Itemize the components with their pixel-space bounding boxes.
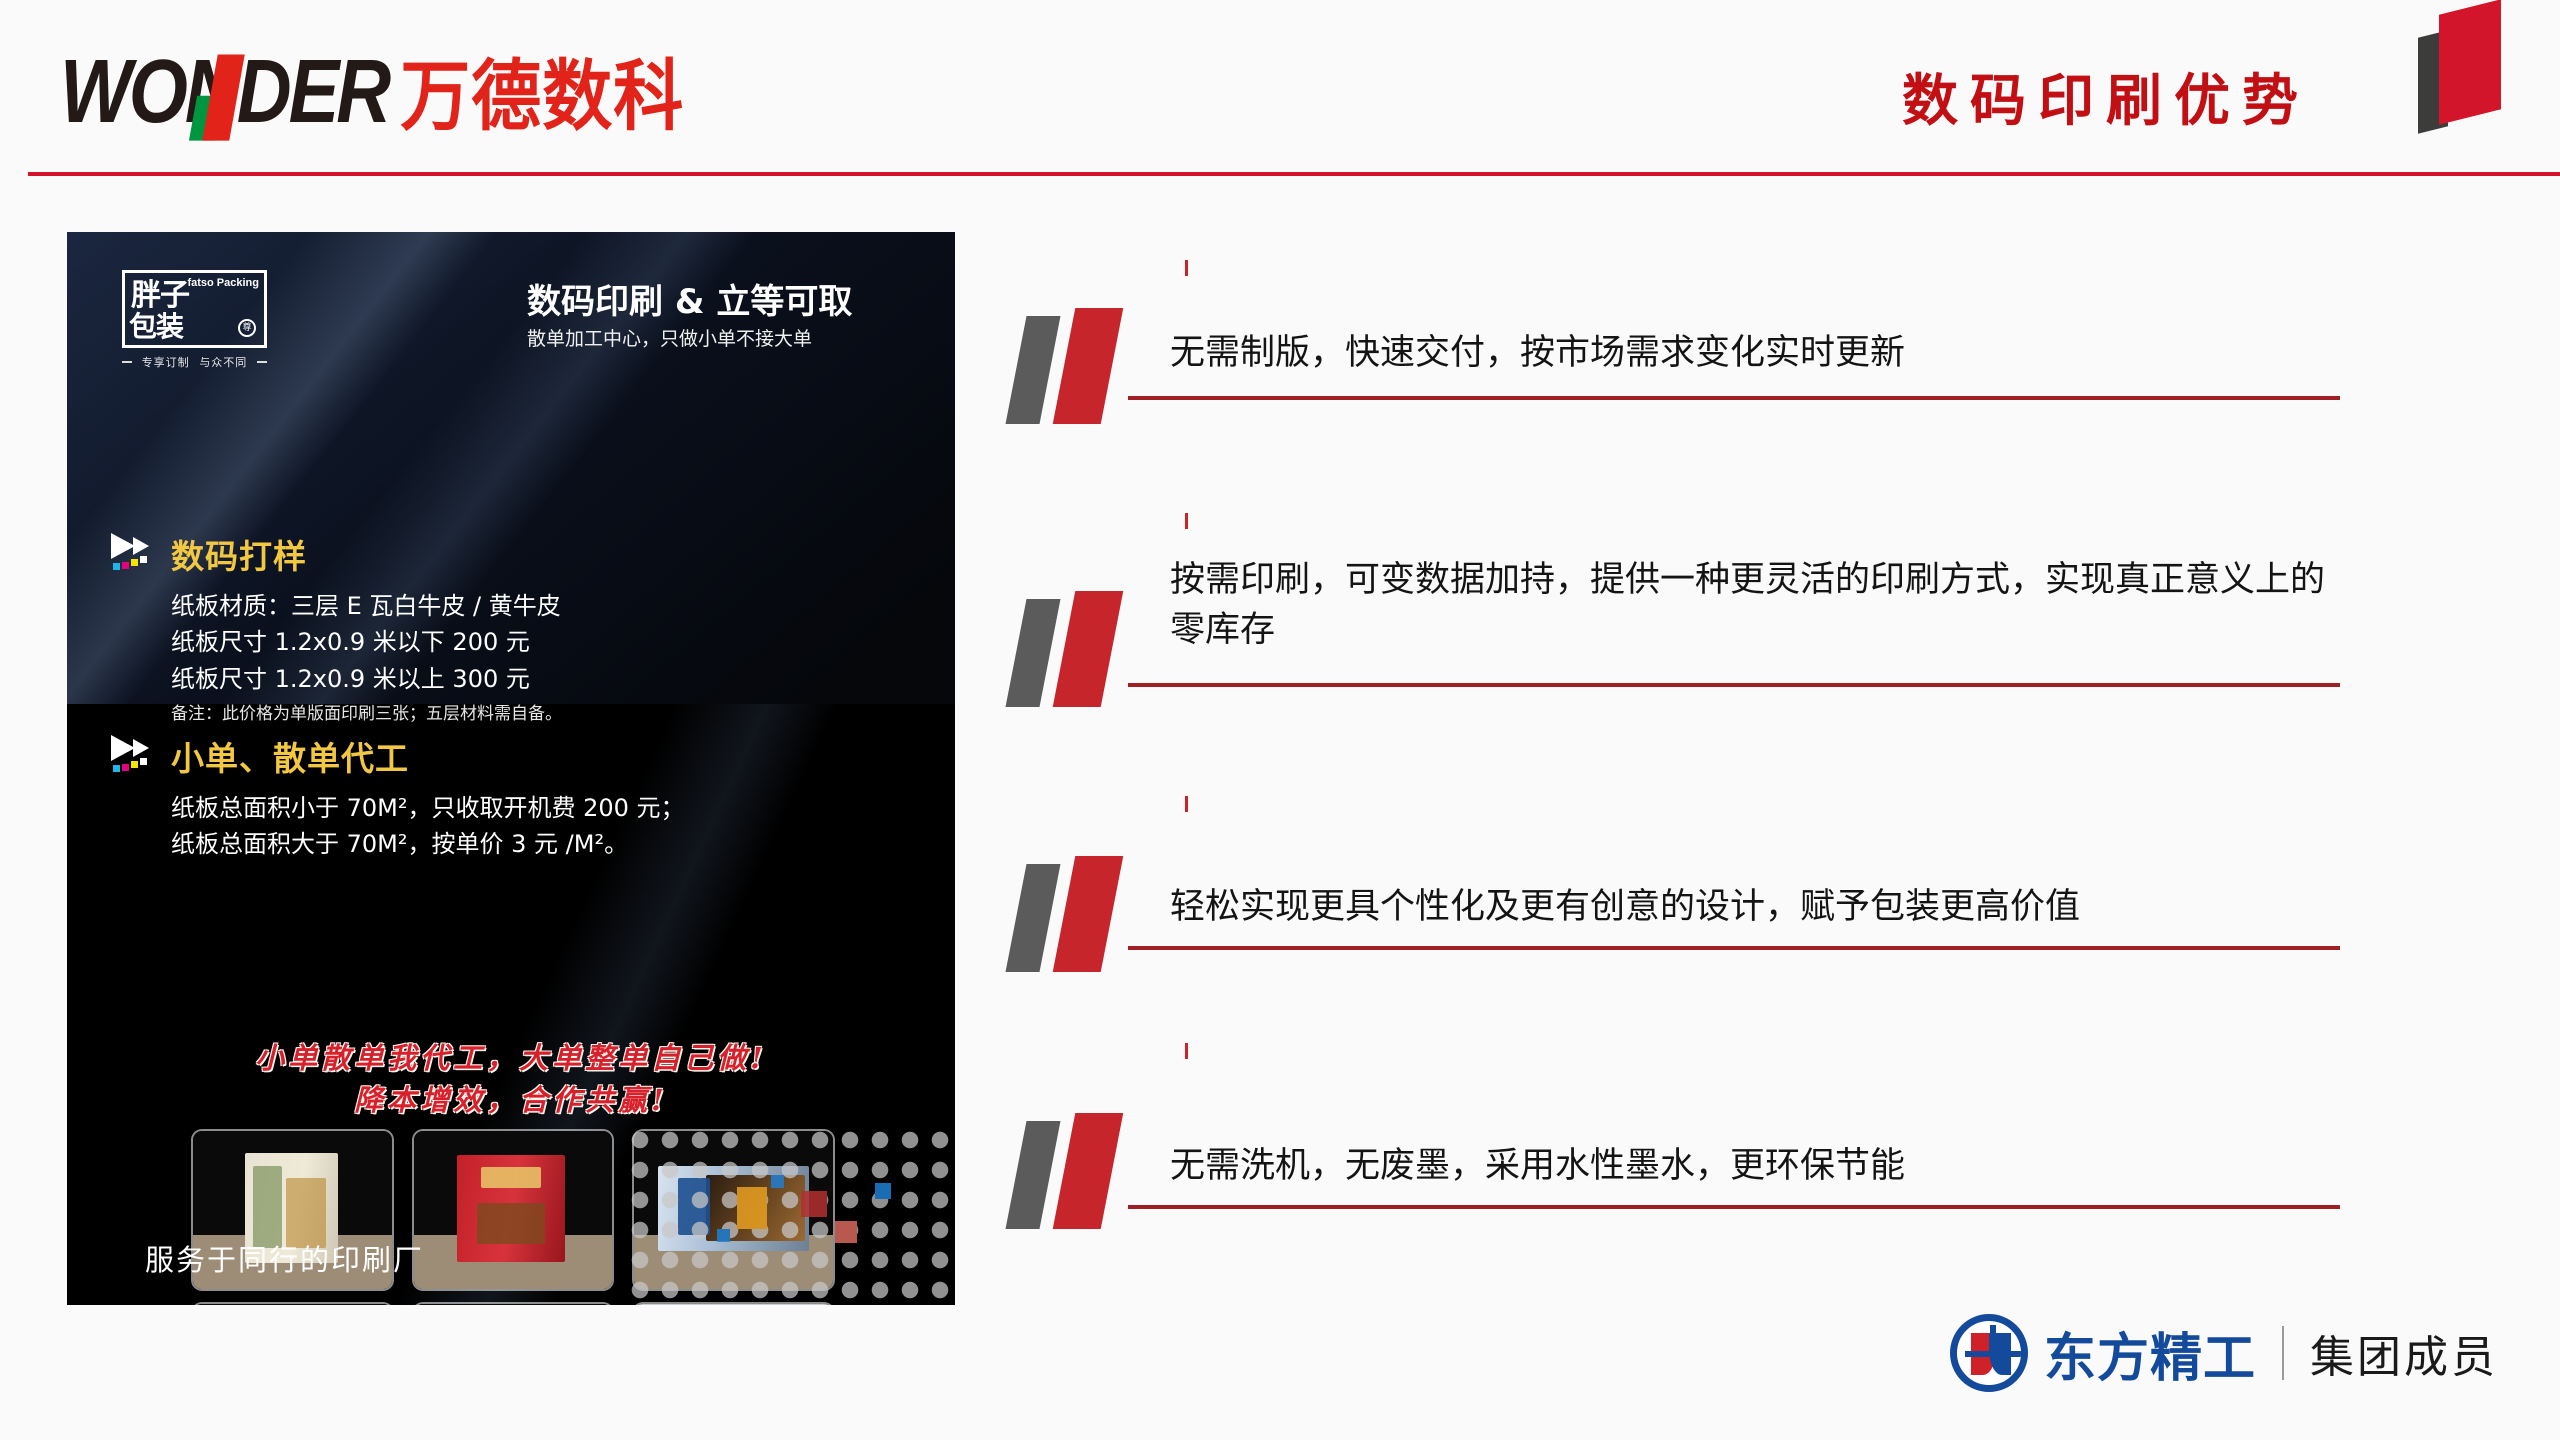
- advantage-1-marker: [1010, 302, 1190, 424]
- group-member-label: 集团成员: [2310, 1321, 2498, 1385]
- section-1-line-2: 纸板尺寸 1.2x0.9 米以下 200 元: [171, 624, 562, 660]
- section-2-line-1: 纸板总面积小于 70M²，只收取开机费 200 元；: [171, 790, 685, 826]
- marker-gray-bar: [1006, 1121, 1061, 1229]
- advantage-4-underline: [1128, 1205, 2340, 1209]
- wonder-brand-logo: WONDER 万德数科: [60, 45, 684, 146]
- tagline-left-dash: [122, 361, 132, 363]
- section-1-title: 数码打样: [171, 530, 307, 578]
- tagline-right-dash: [257, 361, 267, 363]
- advantage-1-underline: [1128, 396, 2340, 400]
- corner-decoration: [2406, 0, 2516, 130]
- marker-red-bar: [1053, 856, 1124, 972]
- section-1-heading: 数码打样: [171, 530, 562, 578]
- advantage-4-tick: [1185, 1043, 1188, 1059]
- poster-section-digital-proofing: 数码打样 纸板材质：三层 E 瓦白牛皮 / 黄牛皮 纸板尺寸 1.2x0.9 米…: [171, 530, 562, 729]
- advantage-3-tick: [1185, 796, 1188, 812]
- advantage-4-marker: [1010, 1107, 1190, 1229]
- poster-section-small-order-oem: 小单、散单代工 纸板总面积小于 70M²，只收取开机费 200 元； 纸板总面积…: [171, 732, 685, 863]
- fatso-logo-main: 胖子: [131, 281, 189, 311]
- header-divider: [28, 172, 2560, 176]
- marker-gray-bar: [1006, 316, 1061, 424]
- brand-chinese-name: 万德数科: [400, 35, 684, 146]
- product-photo: [414, 1304, 613, 1306]
- tagline-left: 专享订制: [142, 354, 190, 370]
- advantage-2-marker: [1010, 585, 1190, 707]
- product-photo: [414, 1131, 613, 1289]
- arrow-cmyk-icon: [111, 733, 165, 779]
- section-2-heading: 小单、散单代工: [171, 732, 685, 780]
- advantage-3-underline: [1128, 946, 2340, 950]
- section-2-title: 小单、散单代工: [171, 732, 409, 780]
- fatso-logo-english: fatso Packing: [187, 278, 259, 290]
- section-2-line-2: 纸板总面积大于 70M²，按单价 3 元 /M²。: [171, 826, 685, 862]
- poster-slogan-line-2: 降本增效，合作共赢!: [67, 1079, 955, 1121]
- classic-tea-gift-box-pair-photo: [414, 1304, 613, 1306]
- advantage-3-marker: [1010, 850, 1190, 972]
- marker-gray-bar: [1006, 599, 1061, 707]
- poster-slogan: 小单散单我代工，大单整单自己做! 降本增效，合作共赢!: [67, 1037, 955, 1121]
- marker-red-bar: [1053, 591, 1124, 707]
- advantage-2-text: 按需印刷，可变数据加持，提供一种更灵活的印刷方式，实现真正意义上的零库存: [1170, 555, 2340, 656]
- kraft-gift-box-plain-photo: [193, 1304, 392, 1306]
- fatso-packing-logo: 胖子 fatso Packing 包装 尊: [122, 270, 267, 348]
- poster-footer-text: 服务于同行的印刷厂: [145, 1237, 424, 1279]
- corner-red-bar: [2439, 0, 2501, 125]
- poster-subheadline: 散单加工中心，只做小单不接大单: [527, 324, 812, 351]
- group-member-logo: 东方精工 集团成员: [1950, 1314, 2498, 1392]
- section-1-line-1: 纸板材质：三层 E 瓦白牛皮 / 黄牛皮: [171, 588, 562, 624]
- marker-gray-bar: [1006, 864, 1061, 972]
- fatso-logo-sub: 包装: [129, 313, 183, 341]
- advantage-4-text: 无需洗机，无废墨，采用水性墨水，更环保节能: [1170, 1141, 2340, 1191]
- arrow-cmyk-icon: [111, 531, 165, 577]
- fatso-logo-badge: 尊: [238, 319, 256, 337]
- advantage-1-text: 无需制版，快速交付，按市场需求变化实时更新: [1170, 328, 2340, 378]
- advantage-3-text: 轻松实现更具个性化及更有创意的设计，赋予包装更高价值: [1170, 882, 2340, 932]
- page-title: 数码印刷优势: [1902, 56, 2310, 137]
- page-header: WONDER 万德数科 数码印刷优势: [0, 0, 2560, 180]
- marker-red-bar: [1053, 308, 1124, 424]
- tagline-right: 与众不同: [199, 354, 247, 370]
- product-photo: [193, 1304, 392, 1306]
- advantage-2-tick: [1185, 513, 1188, 529]
- advantage-1-tick: [1185, 260, 1188, 276]
- group-logo-divider: [2282, 1326, 2284, 1380]
- red-braised-chicken-gift-box-photo: [414, 1131, 613, 1289]
- poster-headline: 数码印刷 & 立等可取: [527, 274, 852, 323]
- dongfang-emblem-icon: [1950, 1314, 2028, 1392]
- poster-dot-pattern: [625, 1125, 955, 1305]
- advantage-2-underline: [1128, 683, 2340, 687]
- marker-red-bar: [1053, 1113, 1124, 1229]
- section-1-note: 备注：此价格为单版面印刷三张；五层材料需自备。: [171, 701, 562, 728]
- wonder-wordmark: WONDER: [60, 40, 388, 143]
- group-name: 东方精工: [2044, 1316, 2256, 1391]
- poster-slogan-line-1: 小单散单我代工，大单整单自己做!: [67, 1037, 955, 1079]
- section-1-line-3: 纸板尺寸 1.2x0.9 米以上 300 元: [171, 661, 562, 697]
- fatso-logo-taglines: 专享订制 与众不同: [122, 354, 267, 370]
- promotional-poster-image: 胖子 fatso Packing 包装 尊 专享订制 与众不同 数码印刷 & 立…: [67, 232, 955, 1305]
